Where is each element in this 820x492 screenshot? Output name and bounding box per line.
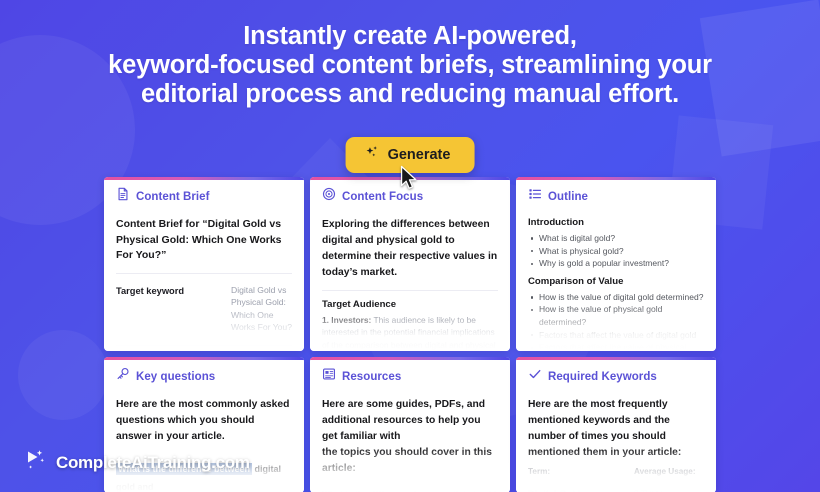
card-required-keywords[interactable]: Required Keywords Here are the most freq… [516,357,716,492]
resources-line-1: Here are some guides, PDFs, and [322,397,498,413]
hero-section: Instantly create AI-powered, keyword-foc… [0,0,820,109]
content-brief-headline: Content Brief for “Digital Gold vs Physi… [116,217,292,264]
list-item: What is digital gold? [528,232,704,245]
row-value: Digital Gold vs Physical Gold: Which One… [231,284,292,334]
keyword-term: Digital Gold [528,488,624,492]
keywords-term-column: Term: Digital Gold [528,467,624,492]
row-label: Target keyword [116,284,221,298]
keywords-usage-column: Average Usage: 9 Times [634,467,704,492]
card-header: Key questions [116,367,292,386]
keywords-table: Term: Digital Gold Average Usage: 9 Time… [528,467,704,492]
app-root: Instantly create AI-powered, keyword-foc… [0,0,820,492]
card-content-brief[interactable]: Content Brief Content Brief for “Digital… [104,177,304,351]
target-audience-heading: Target Audience [322,299,498,310]
list-item: How is the value of digital gold determi… [528,291,704,304]
card-header: Outline [528,187,704,206]
card-header: Resources [322,367,498,386]
content-focus-headline: Exploring the differences between digita… [322,217,498,281]
target-icon [322,187,336,206]
newspaper-icon [322,367,336,386]
document-icon [116,187,130,206]
outline-heading-comparison: Comparison of Value [528,276,704,287]
card-resources[interactable]: Resources Here are some guides, PDFs, an… [310,357,510,492]
divider [322,290,498,291]
key-questions-body: Here are the most commonly asked questio… [116,397,292,445]
card-title: Content Brief [136,191,209,203]
headline-line-1: Instantly create AI-powered, [0,22,820,51]
list-item: Factors that affect the value of digital… [528,329,704,342]
outline-heading-introduction: Introduction [528,217,704,228]
list-icon [528,187,542,206]
outline-list-introduction: What is digital gold? What is physical g… [528,232,704,270]
list-item: What is physical gold? [528,245,704,258]
card-header: Content Brief [116,187,292,206]
page-title: Instantly create AI-powered, keyword-foc… [0,22,820,109]
watermark: CompleteAiTraining.com [22,447,250,478]
resources-line-3: the topics you should cover in this arti… [322,445,498,477]
audience-item-1: 1. Investors: This audience is likely to… [322,314,498,351]
card-title: Content Focus [342,191,423,203]
card-header: Content Focus [322,187,498,206]
generate-button-label: Generate [388,147,451,163]
check-icon [528,367,542,386]
brief-cards-grid: Content Brief Content Brief for “Digital… [104,177,716,492]
sparkle-icon [364,145,380,165]
resource-item-1: What is the difference between digital g… [322,488,498,492]
card-title: Outline [548,191,588,203]
list-item: Why is gold a popular investment? [528,257,704,270]
sparkle-logo-icon [22,447,48,478]
card-content-focus[interactable]: Content Focus Exploring the differences … [310,177,510,351]
watermark-text: CompleteAiTraining.com [56,453,250,473]
audience-label: 1. Investors: [322,315,371,325]
headline-line-2: keyword-focused content briefs, streamli… [0,51,820,80]
generate-button[interactable]: Generate [346,137,475,173]
resources-line-2: additional resources to help you get fam… [322,413,498,445]
decorative-circle-small [18,330,108,420]
list-item: Factors that affect the value of physica… [528,341,704,351]
card-title: Required Keywords [548,371,657,383]
divider [116,345,292,346]
headline-line-3: editorial process and reducing manual ef… [0,80,820,109]
card-title: Resources [342,371,401,383]
required-keywords-body: Here are the most frequently mentioned k… [528,397,704,461]
list-item: How is the value of physical gold determ… [528,303,704,328]
keyword-usage-value: 9 Times [634,488,704,492]
row-target-keyword: Target keyword Digital Gold vs Physical … [116,282,292,336]
generate-button-area: Generate [346,137,475,173]
outline-list-comparison: How is the value of digital gold determi… [528,291,704,351]
column-header-term: Term: [528,467,624,476]
divider [116,273,292,274]
card-outline[interactable]: Outline Introduction What is digital gol… [516,177,716,351]
key-icon [116,367,130,386]
column-header-usage: Average Usage: [634,467,704,476]
card-title: Key questions [136,371,215,383]
card-header: Required Keywords [528,367,704,386]
